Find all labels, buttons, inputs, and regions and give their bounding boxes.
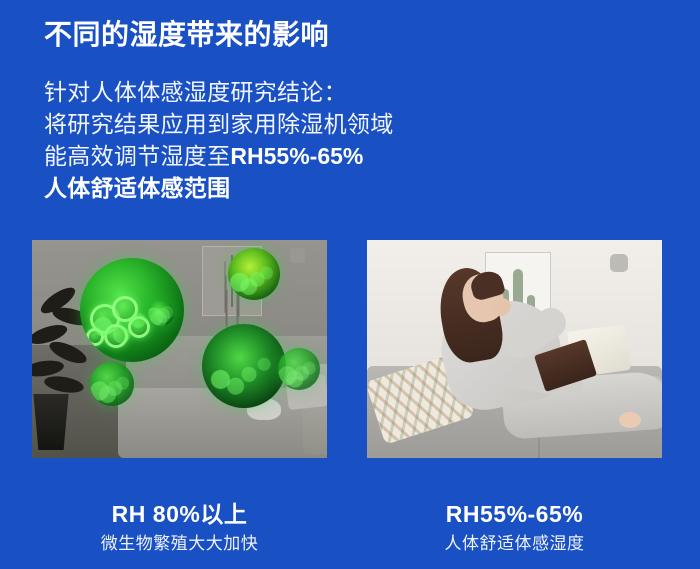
microbe-bubble [90,304,120,334]
caption-high-humidity: RH 80%以上 微生物繁殖大大加快 [32,500,327,555]
foot [619,412,641,428]
caption-comfort-humidity: RH55%-65% 人体舒适体感湿度 [367,500,662,555]
caption-title: RH 80%以上 [32,500,327,528]
intro-humidity-range: RH55%-65% [230,143,363,169]
humidity-infographic-poster: 不同的湿度带来的影响 针对人体体感湿度研究结论： 将研究结果应用到家用除湿机领域… [0,0,700,569]
intro-line-3: 能高效调节湿度至RH55%-65% [44,140,394,172]
microbe-bubble [128,316,150,338]
page-title: 不同的湿度带来的影响 [44,17,329,52]
dim-room-scene [32,240,327,458]
caption-subtitle: 人体舒适体感湿度 [367,533,662,555]
microbe-bubble [112,296,138,322]
caption-title: RH55%-65% [367,500,662,528]
comparison-images [0,240,700,458]
wall-speaker-icon [290,248,305,263]
intro-line-3-prefix: 能高效调节湿度至 [44,143,230,169]
intro-line-1: 针对人体体感湿度研究结论： [44,76,394,108]
image-high-humidity-room [32,240,327,458]
intro-line-4: 人体舒适体感范围 [44,172,394,204]
microbe-bubble [86,328,104,346]
microbe-sphere [278,348,320,390]
woman-reading-figure [407,264,647,440]
intro-line-2: 将研究结果应用到家用除湿机领域 [44,108,394,140]
image-comfort-humidity-room [367,240,662,458]
intro-paragraph: 针对人体体感湿度研究结论： 将研究结果应用到家用除湿机领域 能高效调节湿度至RH… [44,76,394,204]
bright-room-scene [367,240,662,458]
microbe-sphere [90,362,134,406]
microbe-sphere [228,248,280,300]
microbe-sphere [202,324,286,408]
microbe-sphere [148,300,174,326]
caption-subtitle: 微生物繁殖大大加快 [32,533,327,555]
leaf [43,374,85,396]
microbe-bubble [104,324,128,348]
